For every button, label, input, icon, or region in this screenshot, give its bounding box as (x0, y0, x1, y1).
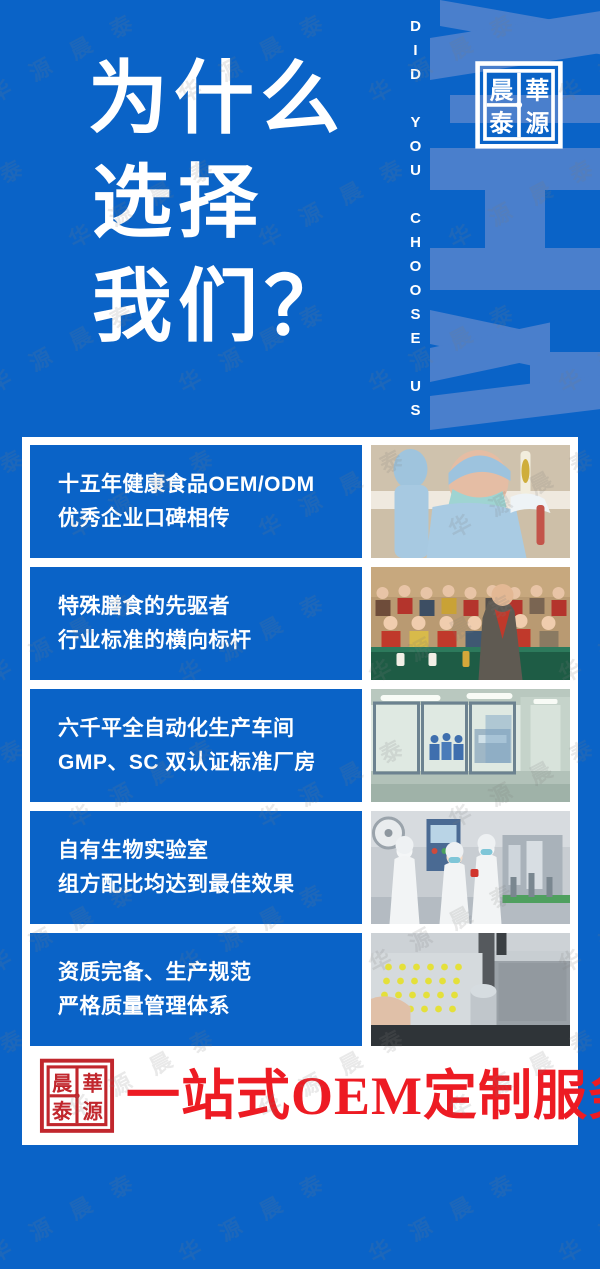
features-panel: 十五年健康食品OEM/ODM 优秀企业口碑相传 (22, 437, 578, 1145)
feature-image-lab-technician (371, 445, 570, 558)
hero-section: 为什么 选择 我们？ DID YOU CHOOSE US 晨 泰 華 源 (0, 0, 600, 437)
feature-card[interactable]: 特殊膳食的先驱者 行业标准的横向标杆 (30, 567, 362, 680)
watermark-text: 华 源 晨 泰 (362, 1163, 524, 1269)
feature-card[interactable]: 资质完备、生产规范 严格质量管理体系 (30, 933, 362, 1046)
svg-text:源: 源 (82, 1099, 103, 1123)
feature-line-2: 行业标准的横向标杆 (58, 624, 362, 658)
feature-line-1: 十五年健康食品OEM/ODM (58, 468, 362, 502)
feature-card[interactable]: 六千平全自动化生产车间 GMP、SC 双认证标准厂房 (30, 689, 362, 802)
feature-image-blister-packing (371, 933, 570, 1046)
features-list: 十五年健康食品OEM/ODM 优秀企业口碑相传 (30, 445, 570, 1046)
watermark-text: 华 源 晨 泰 (172, 1163, 334, 1269)
feature-image-conference-audience (371, 567, 570, 680)
feature-card[interactable]: 自有生物实验室 组方配比均达到最佳效果 (30, 811, 362, 924)
feature-row: 特殊膳食的先驱者 行业标准的横向标杆 (30, 567, 570, 680)
page-title-line-3: 我们？ (88, 256, 350, 360)
svg-text:泰: 泰 (490, 110, 515, 138)
svg-text:源: 源 (525, 110, 549, 138)
svg-text:晨: 晨 (52, 1071, 73, 1095)
feature-line-2: 组方配比均达到最佳效果 (58, 868, 362, 902)
feature-row: 自有生物实验室 组方配比均达到最佳效果 (30, 811, 570, 924)
feature-image-packaging-line (371, 811, 570, 924)
feature-card[interactable]: 十五年健康食品OEM/ODM 优秀企业口碑相传 (30, 445, 362, 558)
feature-row: 六千平全自动化生产车间 GMP、SC 双认证标准厂房 (30, 689, 570, 802)
feature-line-2: 严格质量管理体系 (58, 990, 362, 1024)
cta-banner[interactable]: 晨 泰 華 源 一站式OEM定制服务 (30, 1055, 570, 1137)
page-title-line-2: 选择 (88, 152, 350, 256)
vertical-tagline: DID YOU CHOOSE US (398, 18, 424, 418)
feature-line-1: 自有生物实验室 (58, 834, 362, 868)
feature-line-1: 六千平全自动化生产车间 (58, 712, 362, 746)
brand-seal-icon: 晨 泰 華 源 (473, 58, 565, 152)
brand-seal-red-icon: 晨 泰 華 源 (38, 1056, 116, 1136)
svg-text:華: 華 (525, 76, 549, 104)
feature-row: 十五年健康食品OEM/ODM 优秀企业口碑相传 (30, 445, 570, 558)
feature-row: 资质完备、生产规范 严格质量管理体系 (30, 933, 570, 1046)
feature-image-cleanroom-corridor (371, 689, 570, 802)
watermark-text: 华 源 晨 泰 (552, 1163, 600, 1269)
feature-line-1: 资质完备、生产规范 (58, 956, 362, 990)
svg-text:泰: 泰 (51, 1099, 73, 1123)
page-title-line-1: 为什么 (88, 48, 350, 152)
cta-banner-text: 一站式OEM定制服务 (126, 1066, 600, 1126)
feature-line-2: GMP、SC 双认证标准厂房 (58, 746, 362, 780)
svg-text:華: 華 (82, 1071, 102, 1095)
watermark-text: 华 源 晨 泰 (0, 1163, 145, 1269)
feature-line-1: 特殊膳食的先驱者 (58, 590, 362, 624)
svg-text:晨: 晨 (490, 76, 515, 104)
feature-line-2: 优秀企业口碑相传 (58, 502, 362, 536)
page-title: 为什么 选择 我们？ (88, 48, 350, 360)
